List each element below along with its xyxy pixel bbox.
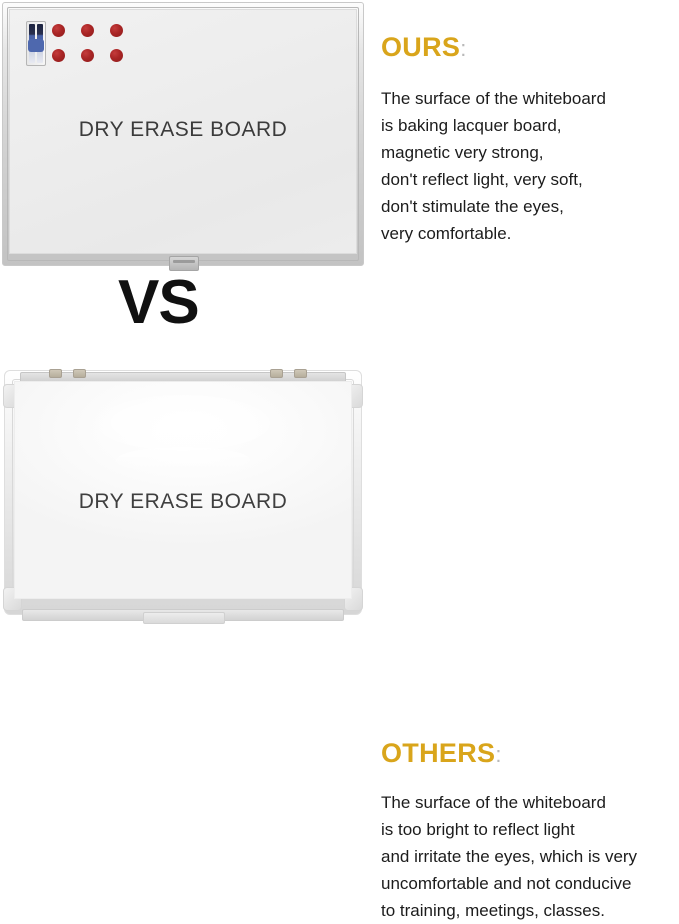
whiteboard-surface-others: DRY ERASE BOARD — [14, 381, 352, 599]
magnet-grid — [52, 24, 124, 64]
comparison-section-others: DRY ERASE BOARD OTHERS: The surface of t… — [0, 360, 679, 621]
board-bottom-tab — [143, 612, 225, 624]
board-caption-ours: DRY ERASE BOARD — [10, 118, 356, 142]
marker-holder-icon — [26, 21, 46, 66]
body-others: The surface of the whiteboard is too bri… — [381, 789, 673, 924]
magnet-icon — [81, 49, 94, 62]
heading-others: OTHERS: — [381, 738, 673, 769]
rail-clip-icon — [49, 369, 62, 378]
body-line: The surface of the whiteboard — [381, 789, 673, 816]
magnet-icon — [110, 49, 123, 62]
body-line: is too bright to reflect light — [381, 816, 673, 843]
body-line: is baking lacquer board, — [381, 112, 673, 139]
body-line: very comfortable. — [381, 220, 673, 247]
body-line: don't reflect light, very soft, — [381, 166, 673, 193]
rail-clip-icon — [270, 369, 283, 378]
magnet-icon — [52, 24, 65, 37]
comparison-section-ours: DRY ERASE BOARD — [0, 0, 679, 340]
body-line: uncomfortable and not conducive — [381, 870, 673, 897]
magnet-icon — [110, 24, 123, 37]
board-accessories-ours — [26, 21, 126, 67]
body-line: and irritate the eyes, which is very — [381, 843, 673, 870]
body-line: don't stimulate the eyes, — [381, 193, 673, 220]
heading-ours-label: OURS — [381, 32, 460, 62]
body-line: to training, meetings, classes. — [381, 897, 673, 924]
whiteboard-others: DRY ERASE BOARD — [4, 370, 362, 615]
magnet-icon — [52, 49, 65, 62]
heading-others-label: OTHERS — [381, 738, 495, 768]
body-line: magnetic very strong, — [381, 139, 673, 166]
glare-reflection — [96, 395, 271, 451]
text-column-ours: OURS: The surface of the whiteboard is b… — [381, 32, 673, 247]
versus-label: VS — [118, 272, 199, 334]
text-column-others: OTHERS: The surface of the whiteboard is… — [381, 738, 673, 924]
glare-reflection-secondary — [116, 447, 250, 473]
board-caption-others: DRY ERASE BOARD — [15, 490, 351, 514]
heading-ours: OURS: — [381, 32, 673, 63]
heading-others-colon: : — [495, 742, 501, 767]
rail-clip-icon — [294, 369, 307, 378]
marker-grip-icon — [28, 39, 44, 52]
magnet-icon — [81, 24, 94, 37]
comparison-page: DRY ERASE BOARD — [0, 0, 679, 621]
whiteboard-ours: DRY ERASE BOARD — [2, 2, 364, 266]
body-line: The surface of the whiteboard — [381, 85, 673, 112]
heading-ours-colon: : — [460, 36, 466, 61]
whiteboard-surface-ours: DRY ERASE BOARD — [9, 9, 357, 254]
rail-clip-icon — [73, 369, 86, 378]
body-ours: The surface of the whiteboard is baking … — [381, 85, 673, 247]
